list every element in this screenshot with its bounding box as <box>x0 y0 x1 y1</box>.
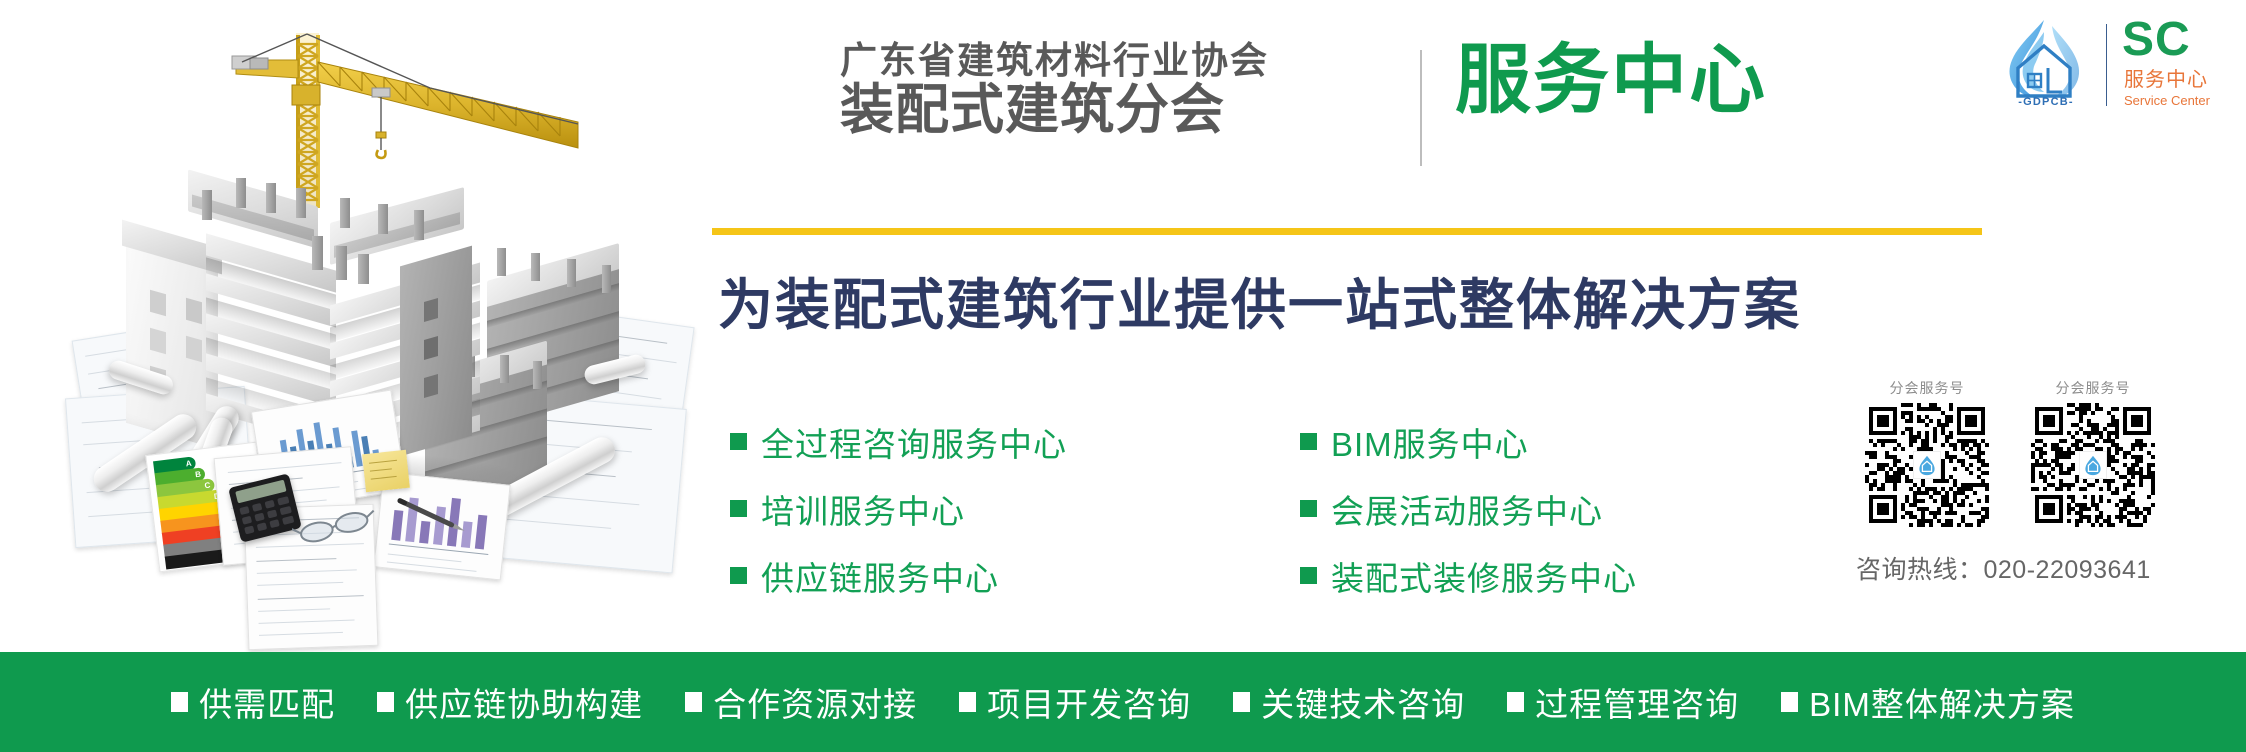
service-list-right: BIM服务中心 会展活动服务中心 装配式装修服务中心 <box>1300 408 1637 609</box>
logo-caption: -GDPCB- <box>1996 96 2096 108</box>
brand-logo[interactable]: -GDPCB- SC 服务中心 Service Center <box>1990 12 2238 116</box>
eyeglasses-icon <box>292 506 378 546</box>
association-title: 广东省建筑材料行业协会 装配式建筑分会 <box>840 42 1269 138</box>
footer-label: 项目开发咨询 <box>987 678 1191 726</box>
flame-house-icon <box>1916 454 1938 476</box>
footer-item[interactable]: 合作资源对接 <box>685 678 917 726</box>
title-divider <box>1420 50 1422 166</box>
footer-item[interactable]: BIM整体解决方案 <box>1781 678 2075 726</box>
footer-item[interactable]: 供应链协助构建 <box>377 678 643 726</box>
construction-illustration: A B C D E F G H I <box>0 0 690 650</box>
list-item[interactable]: 会展活动服务中心 <box>1300 475 1637 542</box>
association-name-line1: 广东省建筑材料行业协会 <box>840 42 1269 80</box>
footer-item[interactable]: 项目开发咨询 <box>959 678 1191 726</box>
footer-item[interactable]: 过程管理咨询 <box>1507 678 1739 726</box>
qr-code-item[interactable]: 分会服务号 <box>2028 378 2158 527</box>
qr-code-label: 分会服务号 <box>1862 378 1992 398</box>
page-tagline: 为装配式建筑行业提供一站式整体解决方案 <box>718 260 1801 340</box>
service-center-heading: 服务中心 <box>1455 43 1767 119</box>
association-name-line2: 装配式建筑分会 <box>840 82 1269 139</box>
square-bullet-icon <box>1233 692 1250 712</box>
square-bullet-icon <box>730 433 747 450</box>
square-bullet-icon <box>377 692 394 712</box>
square-bullet-icon <box>730 500 747 517</box>
contact-block: 分会服务号 分会服务号 <box>1856 378 2246 578</box>
banner-root: A B C D E F G H I <box>0 0 2246 752</box>
footer-label: 供应链协助构建 <box>405 678 643 726</box>
sticky-note <box>362 450 410 492</box>
footer-label: BIM整体解决方案 <box>1809 678 2075 726</box>
square-bullet-icon <box>685 692 702 712</box>
square-bullet-icon <box>1300 433 1317 450</box>
list-item[interactable]: 装配式装修服务中心 <box>1300 542 1637 609</box>
footer-item[interactable]: 供需匹配 <box>171 678 335 726</box>
qr-code-icon[interactable] <box>2031 403 2155 527</box>
logo-sc-abbr: SC <box>2122 16 2191 64</box>
service-label: 培训服务中心 <box>761 485 965 533</box>
qr-code-icon[interactable] <box>1865 403 1989 527</box>
logo-sc-chinese: 服务中心 <box>2124 70 2208 90</box>
square-bullet-icon <box>730 567 747 584</box>
service-label: 装配式装修服务中心 <box>1331 552 1637 600</box>
square-bullet-icon <box>1300 500 1317 517</box>
list-item[interactable]: 供应链服务中心 <box>730 542 1067 609</box>
qr-code-item[interactable]: 分会服务号 <box>1862 378 1992 527</box>
gold-divider-rule <box>712 228 1982 235</box>
service-list-left: 全过程咨询服务中心 培训服务中心 供应链服务中心 <box>730 408 1067 609</box>
service-label: BIM服务中心 <box>1331 418 1529 466</box>
qr-center-logo <box>2079 451 2107 479</box>
flame-house-icon <box>2082 454 2104 476</box>
footer-item[interactable]: 关键技术咨询 <box>1233 678 1465 726</box>
qr-code-label: 分会服务号 <box>2028 378 2158 398</box>
list-item[interactable]: 全过程咨询服务中心 <box>730 408 1067 475</box>
service-label: 会展活动服务中心 <box>1331 485 1603 533</box>
footer-label: 供需匹配 <box>199 678 335 726</box>
list-item[interactable]: 培训服务中心 <box>730 475 1067 542</box>
logo-sc-english: Service Center <box>2124 94 2210 107</box>
square-bullet-icon <box>959 692 976 712</box>
square-bullet-icon <box>171 692 188 712</box>
list-item[interactable]: BIM服务中心 <box>1300 408 1637 475</box>
footer-keyword-bar: 供需匹配 供应链协助构建 合作资源对接 项目开发咨询 关键技术咨询 过程管理咨询… <box>0 652 2246 752</box>
qr-center-logo <box>1913 451 1941 479</box>
footer-label: 过程管理咨询 <box>1535 678 1739 726</box>
footer-label: 关键技术咨询 <box>1261 678 1465 726</box>
footer-label: 合作资源对接 <box>713 678 917 726</box>
square-bullet-icon <box>1781 692 1798 712</box>
square-bullet-icon <box>1300 567 1317 584</box>
logo-divider <box>2106 24 2107 106</box>
hotline-text: 咨询热线：020-22093641 <box>1856 550 2246 586</box>
pen-icon <box>382 492 472 538</box>
square-bullet-icon <box>1507 692 1524 712</box>
service-label: 全过程咨询服务中心 <box>761 418 1067 466</box>
service-label: 供应链服务中心 <box>761 552 999 600</box>
